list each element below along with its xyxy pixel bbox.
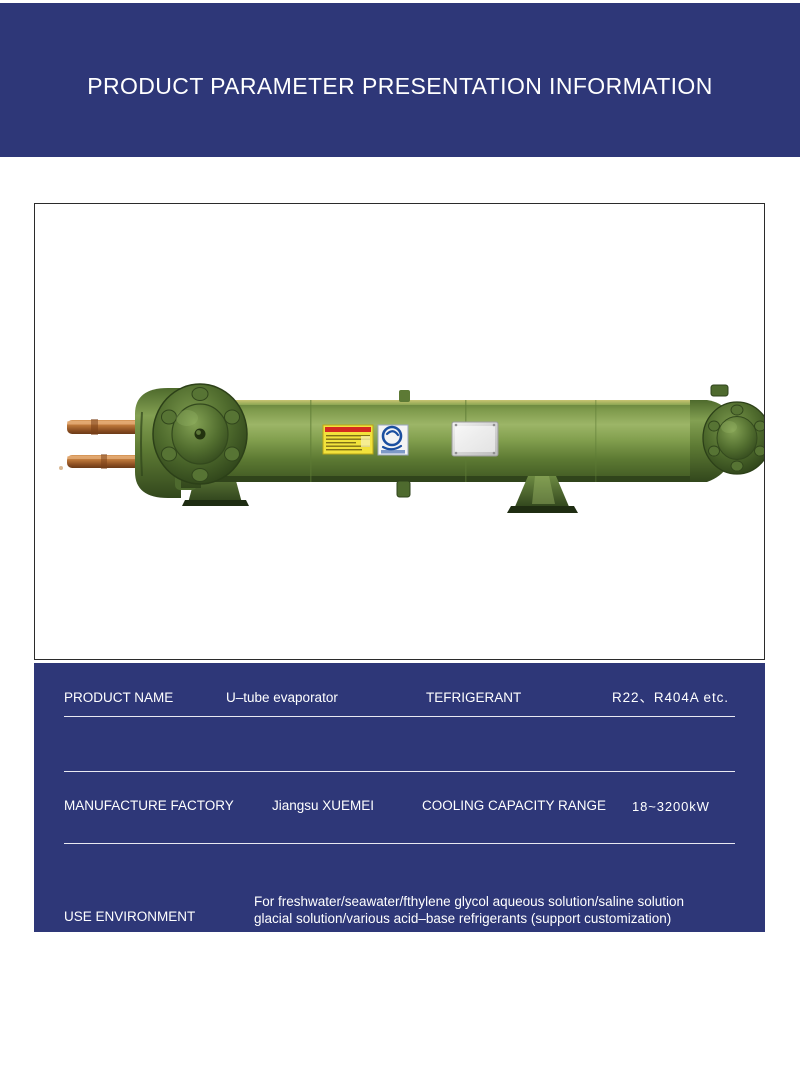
top-lug [399, 390, 410, 402]
page-header-band: PRODUCT PARAMETER PRESENTATION INFORMATI… [0, 3, 800, 157]
spec-table-panel: PRODUCT NAME U–tube evaporator TEFRIGERA… [34, 663, 765, 932]
copper-inlet-tube-upper [67, 419, 141, 435]
page-title: PRODUCT PARAMETER PRESENTATION INFORMATI… [0, 73, 800, 100]
table-row: USE ENVIRONMENT For freshwater/seawater/… [34, 771, 765, 843]
copper-outlet-tube-lower [67, 454, 141, 469]
certification-sticker [378, 425, 408, 455]
spec-value-certificate: Pressure vessel certificate/fishing insp… [341, 1033, 771, 1084]
spec-label-certificate: CAN APPLY FOR A CERTIFICATE [64, 1058, 272, 1075]
product-parameter-page: { "header": { "title": "PRODUCT PARAMETE… [0, 0, 800, 949]
spec-value-refrigerant: R22、R404A etc. [612, 689, 729, 706]
table-row: PRODUCT NAME U–tube evaporator TEFRIGERA… [34, 663, 765, 716]
spec-label-refrigerant: TEFRIGERANT [426, 689, 521, 706]
table-row: MANUFACTURE FACTORY Jiangsu XUEMEI COOLI… [34, 716, 765, 771]
spec-value-product-name: U–tube evaporator [226, 689, 338, 706]
left-flange [153, 384, 247, 484]
right-flange [703, 402, 765, 474]
warning-label [323, 425, 373, 454]
table-row: CAN APPLY FOR A CERTIFICATE Pressure ves… [34, 843, 765, 932]
spec-label-product-name: PRODUCT NAME [64, 689, 173, 706]
product-photo-frame [34, 203, 765, 660]
product-image-u-tube-evaporator [35, 204, 765, 660]
bottom-drain-nozzle [397, 481, 410, 497]
metal-nameplate [452, 422, 498, 456]
